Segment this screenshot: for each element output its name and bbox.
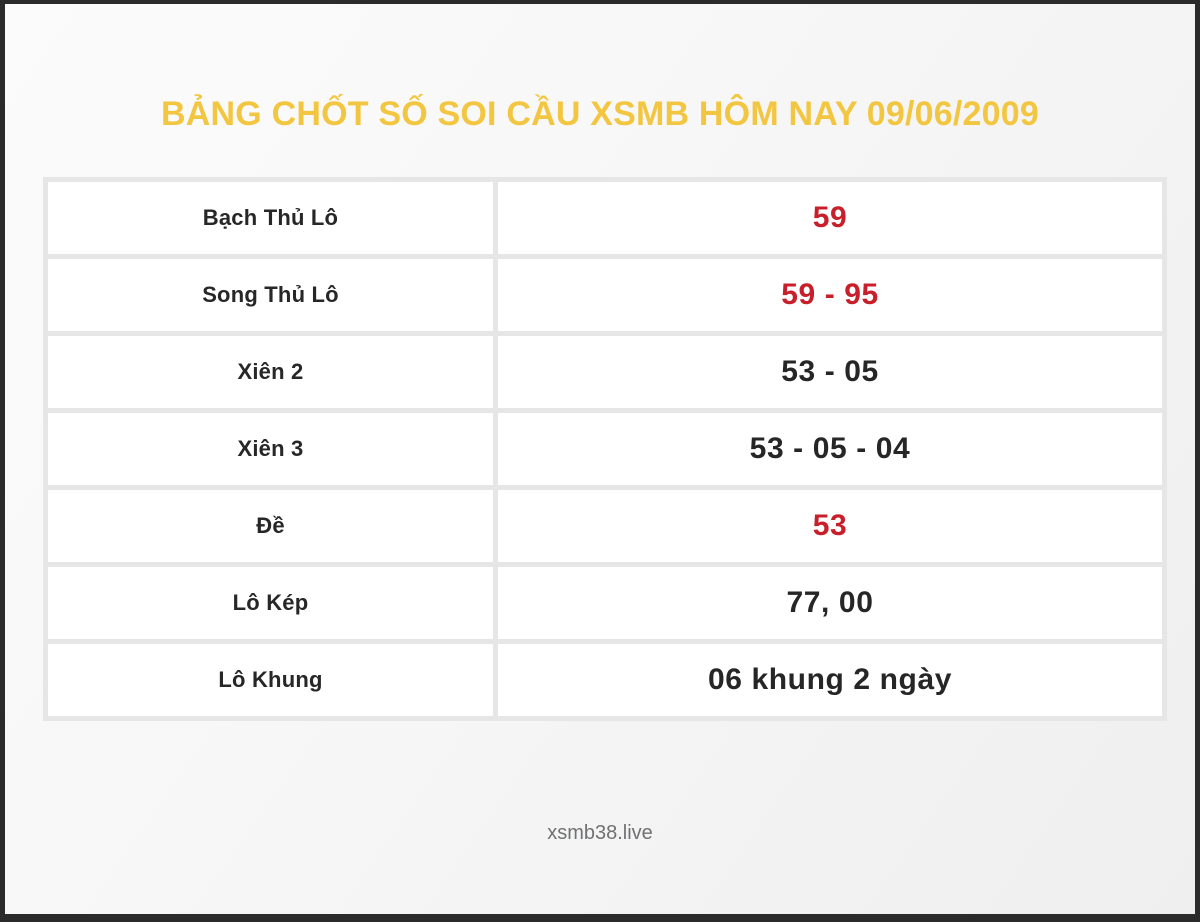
row-label-cell: Song Thủ Lô (46, 257, 496, 334)
row-label-cell: Lô Kép (46, 565, 496, 642)
row-value-cell: 53 - 05 - 04 (496, 411, 1165, 488)
table-row: Lô Kép 77, 00 (46, 565, 1165, 642)
soi-cau-table-container: Bạch Thủ Lô 59 Song Thủ Lô 59 - 95 (43, 177, 1162, 721)
table-row: Bạch Thủ Lô 59 (46, 180, 1165, 257)
row-value: 53 (813, 509, 848, 542)
table-row: Xiên 3 53 - 05 - 04 (46, 411, 1165, 488)
row-label: Đề (256, 513, 285, 538)
image-frame: BẢNG CHỐT SỐ SOI CẦU XSMB HÔM NAY 09/06/… (0, 0, 1200, 922)
row-label-cell: Bạch Thủ Lô (46, 180, 496, 257)
row-value: 59 (813, 201, 848, 234)
row-value-cell: 77, 00 (496, 565, 1165, 642)
row-label-cell: Đề (46, 488, 496, 565)
row-value-cell: 06 khung 2 ngày (496, 642, 1165, 719)
row-value-cell: 59 - 95 (496, 257, 1165, 334)
row-label: Lô Khung (218, 667, 322, 692)
table-row: Xiên 2 53 - 05 (46, 334, 1165, 411)
site-watermark: xsmb38.live (5, 822, 1195, 845)
table-row: Lô Khung 06 khung 2 ngày (46, 642, 1165, 719)
row-label-cell: Xiên 3 (46, 411, 496, 488)
page-background: BẢNG CHỐT SỐ SOI CẦU XSMB HÔM NAY 09/06/… (5, 4, 1195, 914)
row-label: Xiên 2 (237, 359, 303, 384)
row-label: Xiên 3 (237, 436, 303, 461)
row-label-cell: Lô Khung (46, 642, 496, 719)
row-value: 77, 00 (786, 586, 873, 619)
row-value: 06 khung 2 ngày (708, 663, 952, 696)
row-value: 53 - 05 (781, 355, 879, 388)
row-value: 53 - 05 - 04 (750, 432, 911, 465)
row-label: Song Thủ Lô (202, 282, 339, 307)
row-value-cell: 59 (496, 180, 1165, 257)
row-label-cell: Xiên 2 (46, 334, 496, 411)
row-value-cell: 53 (496, 488, 1165, 565)
table-row: Song Thủ Lô 59 - 95 (46, 257, 1165, 334)
row-label: Lô Kép (233, 590, 309, 615)
soi-cau-table: Bạch Thủ Lô 59 Song Thủ Lô 59 - 95 (43, 177, 1167, 721)
row-value: 59 - 95 (781, 278, 879, 311)
row-value-cell: 53 - 05 (496, 334, 1165, 411)
table-row: Đề 53 (46, 488, 1165, 565)
page-title: BẢNG CHỐT SỐ SOI CẦU XSMB HÔM NAY 09/06/… (5, 96, 1195, 133)
soi-cau-table-body: Bạch Thủ Lô 59 Song Thủ Lô 59 - 95 (46, 180, 1165, 719)
row-label: Bạch Thủ Lô (203, 205, 338, 230)
